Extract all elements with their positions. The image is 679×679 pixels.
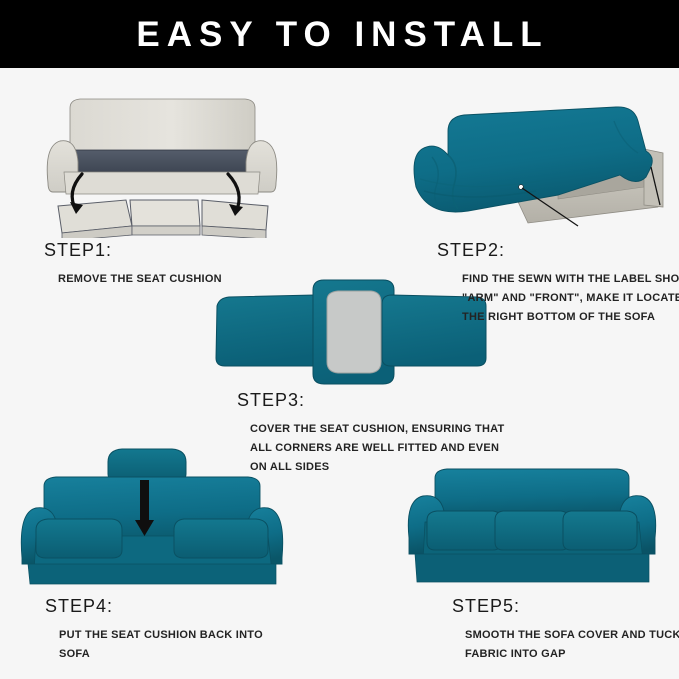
covered-sofa-svg [405,462,660,592]
step1-body: REMOVE THE SEAT CUSHION [58,270,222,289]
step2-line-1: FIND THE SEWN WITH THE LABEL SHOWS [462,270,679,289]
step4-block: STEP4: PUT THE SEAT CUSHION BACK INTO SO… [45,596,263,664]
step2-body: FIND THE SEWN WITH THE LABEL SHOWS "ARM"… [462,270,679,327]
step4-heading: STEP4: [45,596,263,617]
step2-line-2: "ARM" AND "FRONT", MAKE IT LOCATE IN [462,289,679,308]
step3-heading: STEP3: [237,390,505,411]
step4-body: PUT THE SEAT CUSHION BACK INTO SOFA [59,626,263,664]
step5-heading: STEP5: [452,596,679,617]
step1-line-1: REMOVE THE SEAT CUSHION [58,270,222,289]
step2-line-3: THE RIGHT BOTTOM OF THE SOFA [462,308,679,327]
step4-line-2: SOFA [59,645,263,664]
header-banner: EASY TO INSTALL [0,0,679,68]
step3-body: COVER THE SEAT CUSHION, ENSURING THAT AL… [250,420,505,477]
step5-block: STEP5: SMOOTH THE SOFA COVER AND TUCK TH… [452,596,679,664]
step3-line-2: ALL CORNERS ARE WELL FITTED AND EVEN [250,439,505,458]
step1-illustration [40,88,290,243]
step5-line-2: FABRIC INTO GAP [465,645,679,664]
step2-illustration: ARM FRONT [408,95,670,245]
step3-block: STEP3: COVER THE SEAT CUSHION, ENSURING … [237,390,505,477]
step3-line-1: COVER THE SEAT CUSHION, ENSURING THAT [250,420,505,439]
draped-cover-svg [408,95,670,240]
step5-body: SMOOTH THE SOFA COVER AND TUCK THE FABRI… [465,626,679,664]
step5-line-1: SMOOTH THE SOFA COVER AND TUCK THE [465,626,679,645]
bare-sofa-svg [40,88,290,238]
step2-heading: STEP2: [437,240,679,261]
page-title: EASY TO INSTALL [130,17,548,52]
infographic-page: EASY TO INSTALL [0,0,679,679]
step1-block: STEP1: REMOVE THE SEAT CUSHION [44,240,222,289]
step2-block: STEP2: FIND THE SEWN WITH THE LABEL SHOW… [437,240,679,327]
step1-heading: STEP1: [44,240,222,261]
step3-line-3: ON ALL SIDES [250,458,505,477]
step5-illustration [405,462,660,597]
step4-line-1: PUT THE SEAT CUSHION BACK INTO [59,626,263,645]
